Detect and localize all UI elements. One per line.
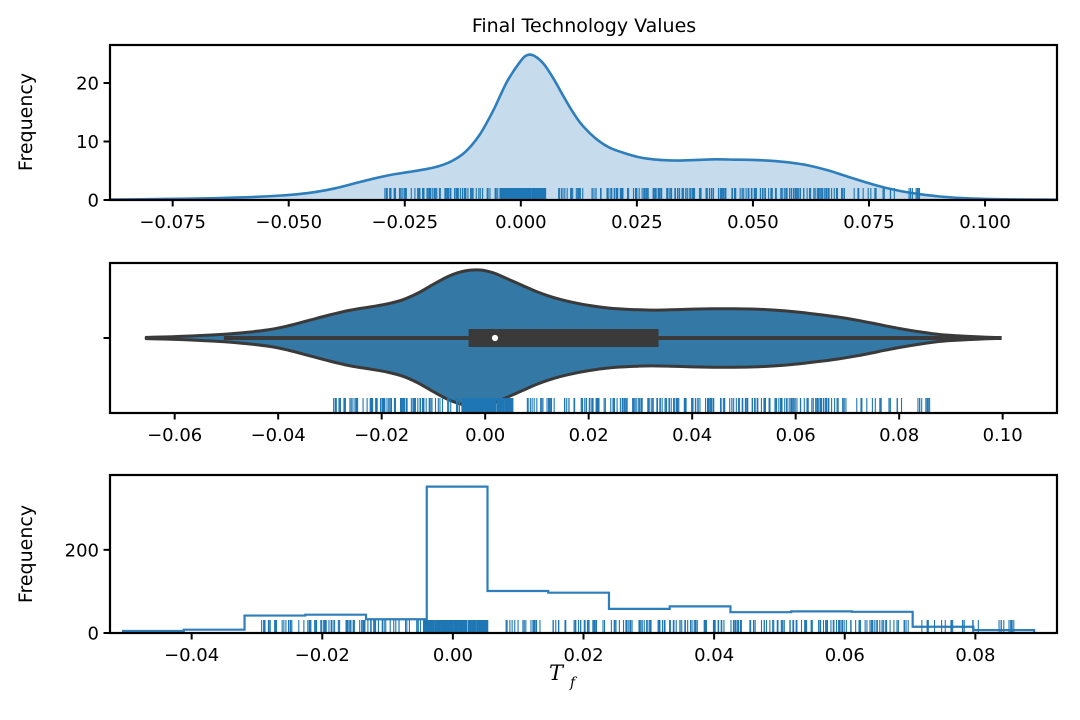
x-tick-label: −0.02: [295, 645, 350, 666]
kde-plot-area: [110, 45, 1057, 200]
x-axis-ticks-panel2: −0.06−0.04−0.020.000.020.040.060.080.10: [147, 413, 1023, 446]
x-axis-ticks-panel3: −0.04−0.020.000.020.040.060.08: [164, 633, 995, 666]
x-tick-label: 0.08: [955, 645, 995, 666]
y-tick-label: 200: [65, 540, 99, 561]
x-tick-label: 0.00: [433, 645, 473, 666]
y-tick-label: 0: [88, 191, 99, 212]
x-tick-label: 0.04: [672, 425, 712, 446]
x-tick-label: −0.04: [164, 645, 219, 666]
x-tick-label: 0.06: [776, 425, 816, 446]
x-tick-label: 0.06: [825, 645, 865, 666]
x-axis-label-symbol: T: [549, 661, 565, 685]
x-tick-label: −0.075: [139, 212, 206, 233]
violin-box-panel: −0.06−0.04−0.020.000.020.040.060.080.10: [0, 250, 1080, 460]
y-axis-label-panel1: Frequency: [15, 73, 37, 171]
x-tick-label: 0.075: [843, 212, 895, 233]
x-tick-label: −0.050: [255, 212, 322, 233]
x-tick-label: −0.02: [354, 425, 409, 446]
histogram-plot-area: [110, 475, 1057, 633]
y-tick-label: 0: [88, 624, 99, 645]
x-tick-label: 0.08: [879, 425, 919, 446]
x-axis-label-subscript: f: [569, 675, 578, 691]
y-tick-label: 20: [76, 74, 99, 95]
figure-title: Final Technology Values: [472, 15, 696, 37]
y-axis-label-panel3: Frequency: [15, 505, 37, 603]
x-tick-label: 0.02: [563, 645, 603, 666]
figure-canvas: Final Technology Values −0.075−0.050−0.0…: [0, 0, 1080, 720]
x-tick-label: 0.10: [983, 425, 1023, 446]
x-tick-label: −0.04: [251, 425, 306, 446]
x-tick-label: 0.025: [611, 212, 663, 233]
y-axis-ticks-panel3: 0200: [65, 540, 110, 644]
y-tick-label: 10: [76, 132, 99, 153]
median-marker: [492, 335, 498, 341]
x-axis-ticks-panel1: −0.075−0.050−0.0250.0000.0250.0500.0750.…: [139, 200, 1010, 233]
x-tick-label: 0.100: [959, 212, 1011, 233]
x-tick-label: 0.04: [694, 645, 734, 666]
x-tick-label: 0.050: [727, 212, 779, 233]
x-tick-label: 0.000: [495, 212, 547, 233]
x-tick-label: 0.02: [569, 425, 609, 446]
x-tick-label: 0.00: [465, 425, 505, 446]
x-tick-label: −0.025: [371, 212, 438, 233]
x-tick-label: −0.06: [147, 425, 202, 446]
kde-density-panel: Final Technology Values −0.075−0.050−0.0…: [0, 0, 1080, 250]
violin-plot-area: [110, 263, 1057, 413]
histogram-panel: −0.04−0.020.000.020.040.060.08 0200 Freq…: [0, 460, 1080, 720]
y-axis-ticks-panel1: 01020: [76, 74, 110, 212]
